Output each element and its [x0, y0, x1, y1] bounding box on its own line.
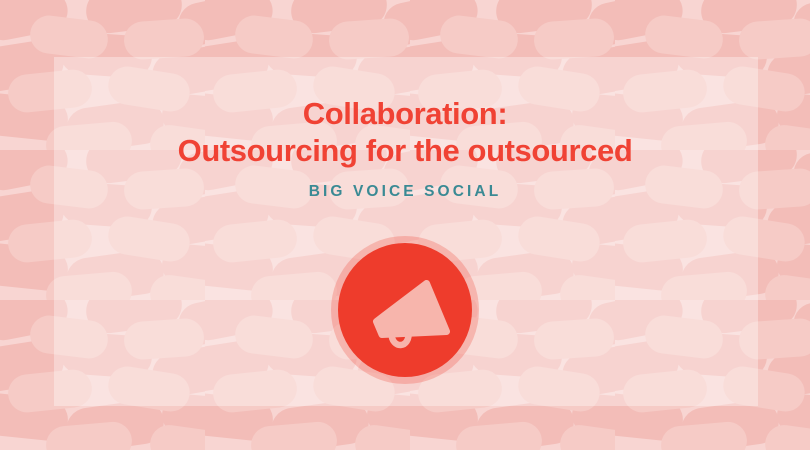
megaphone-badge	[331, 236, 479, 384]
text-block: Collaboration: Outsourcing for the outso…	[0, 96, 810, 201]
poster-canvas: Collaboration: Outsourcing for the outso…	[0, 0, 810, 450]
page-title-line-1: Collaboration:	[0, 96, 810, 133]
badge-circle	[338, 243, 472, 377]
megaphone-icon	[366, 271, 458, 363]
brand-subtitle: BIG VOICE SOCIAL	[0, 183, 810, 201]
page-title-line-2: Outsourcing for the outsourced	[0, 133, 810, 170]
